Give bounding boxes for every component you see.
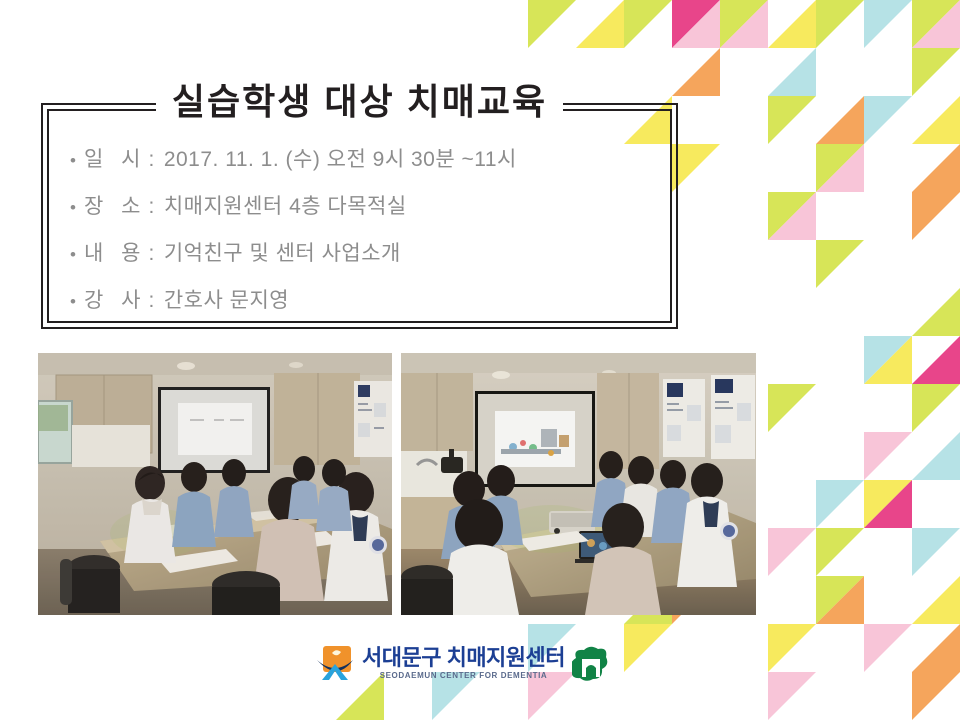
pattern-triangle: [672, 144, 720, 192]
detail-label: 강 사: [84, 284, 146, 314]
pattern-triangle: [912, 576, 960, 624]
pattern-triangle: [912, 96, 960, 144]
pattern-triangle: [912, 0, 960, 48]
pattern-triangle: [816, 144, 864, 192]
list-item: • 내 용 : 기억친구 및 센터 사업소개: [70, 237, 670, 267]
pattern-triangle: [816, 576, 864, 624]
logo-person-mark-icon: [315, 644, 355, 682]
list-item: • 장 소 : 치매지원센터 4층 다목적실: [70, 190, 670, 220]
pattern-triangle: [672, 0, 720, 48]
detail-colon: :: [146, 242, 163, 266]
bullet-icon: •: [70, 293, 84, 310]
pattern-triangle: [912, 192, 960, 240]
pattern-triangle: [864, 624, 912, 672]
pattern-triangle: [864, 96, 912, 144]
detail-label: 일 시: [84, 143, 146, 173]
pattern-triangle: [864, 432, 912, 480]
bullet-icon: •: [70, 246, 84, 263]
pattern-triangle: [624, 0, 672, 48]
pattern-triangle: [720, 0, 768, 48]
pattern-triangle: [672, 48, 720, 96]
pattern-triangle: [672, 0, 720, 48]
pattern-triangle: [624, 624, 672, 672]
pattern-triangle: [816, 144, 864, 192]
pattern-triangle: [912, 384, 960, 432]
pattern-triangle: [768, 384, 816, 432]
slide-canvas: 실습학생 대상 치매교육 • 일 시 : 2017. 11. 1. (수) 오전…: [0, 0, 960, 720]
organization-logo: 서대문구 치매지원센터 SEODAEMUN CENTER FOR DEMENTI…: [315, 641, 610, 685]
pattern-triangle: [912, 432, 960, 480]
pattern-triangle: [816, 0, 864, 48]
pattern-triangle: [864, 480, 912, 528]
page-title-container: 실습학생 대상 치매교육: [41, 74, 678, 130]
detail-label: 내 용: [84, 237, 146, 267]
detail-colon: :: [146, 289, 163, 313]
detail-value: 2017. 11. 1. (수) 오전 9시 30분 ~11시: [164, 143, 517, 173]
pattern-triangle: [528, 0, 576, 48]
pattern-triangle: [864, 0, 912, 48]
pattern-triangle: [768, 192, 816, 240]
pattern-triangle: [864, 480, 912, 528]
pattern-triangle: [816, 96, 864, 144]
pattern-triangle: [768, 672, 816, 720]
pattern-triangle: [576, 0, 624, 48]
detail-value: 간호사 문지영: [164, 284, 289, 314]
pattern-triangle: [912, 0, 960, 48]
detail-colon: :: [146, 195, 163, 219]
logo-gate-emblem-icon: [572, 644, 610, 682]
pattern-triangle: [912, 288, 960, 336]
pattern-triangle: [912, 624, 960, 672]
pattern-triangle: [912, 672, 960, 720]
detail-value: 기억친구 및 센터 사업소개: [164, 237, 401, 267]
pattern-triangle: [912, 144, 960, 192]
detail-colon: :: [146, 148, 163, 172]
pattern-triangle: [816, 240, 864, 288]
bullet-icon: •: [70, 152, 84, 169]
pattern-triangle: [816, 480, 864, 528]
pattern-triangle: [768, 624, 816, 672]
pattern-triangle: [768, 192, 816, 240]
pattern-triangle: [912, 48, 960, 96]
detail-label: 장 소: [84, 190, 146, 220]
logo-title: 서대문구 치매지원센터: [362, 647, 565, 669]
pattern-triangle: [816, 528, 864, 576]
logo-text-block: 서대문구 치매지원센터 SEODAEMUN CENTER FOR DEMENTI…: [362, 647, 565, 680]
pattern-triangle: [768, 528, 816, 576]
pattern-triangle: [816, 576, 864, 624]
pattern-triangle: [720, 0, 768, 48]
event-details-list: • 일 시 : 2017. 11. 1. (수) 오전 9시 30분 ~11시 …: [70, 143, 670, 331]
detail-value: 치매지원센터 4층 다목적실: [164, 190, 407, 220]
pattern-triangle: [912, 528, 960, 576]
page-title: 실습학생 대상 치매교육: [156, 82, 563, 122]
logo-subtitle: SEODAEMUN CENTER FOR DEMENTIA: [362, 672, 565, 680]
list-item: • 일 시 : 2017. 11. 1. (수) 오전 9시 30분 ~11시: [70, 143, 670, 173]
list-item: • 강 사 : 간호사 문지영: [70, 284, 670, 314]
pattern-triangle: [912, 336, 960, 384]
photo-classroom-right: [401, 353, 756, 615]
photo-classroom-left: [38, 353, 392, 615]
pattern-triangle: [768, 0, 816, 48]
pattern-triangle: [768, 48, 816, 96]
pattern-triangle: [768, 96, 816, 144]
pattern-triangle: [864, 336, 912, 384]
pattern-triangle: [864, 336, 912, 384]
bullet-icon: •: [70, 199, 84, 216]
